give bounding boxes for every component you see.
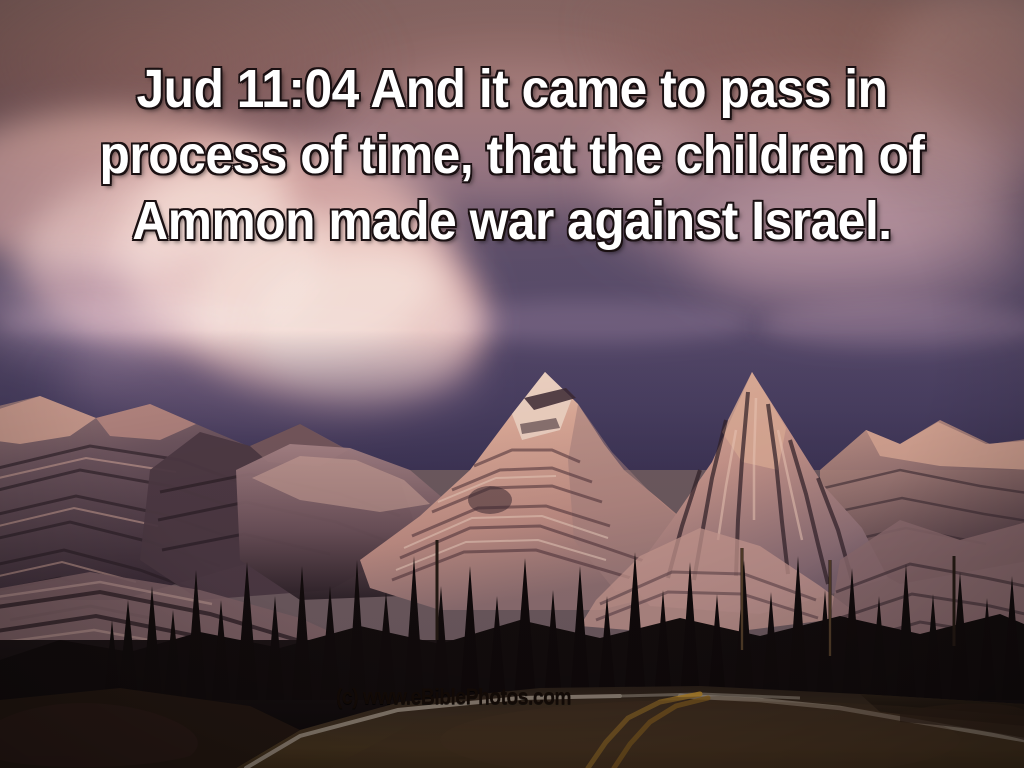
verse-line-1: Jud 11:04 And it came to pass in bbox=[78, 56, 946, 122]
verse-line-2: process of time, that the children of bbox=[78, 122, 946, 188]
verse-line-3: Ammon made war against Israel. bbox=[78, 188, 946, 254]
verse-image-canvas: Jud 11:04 And it came to pass in process… bbox=[0, 0, 1024, 768]
verse-text-overlay: Jud 11:04 And it came to pass in process… bbox=[41, 56, 983, 254]
copyright-watermark: (c) www.eBiblePhotos.com bbox=[336, 686, 571, 708]
